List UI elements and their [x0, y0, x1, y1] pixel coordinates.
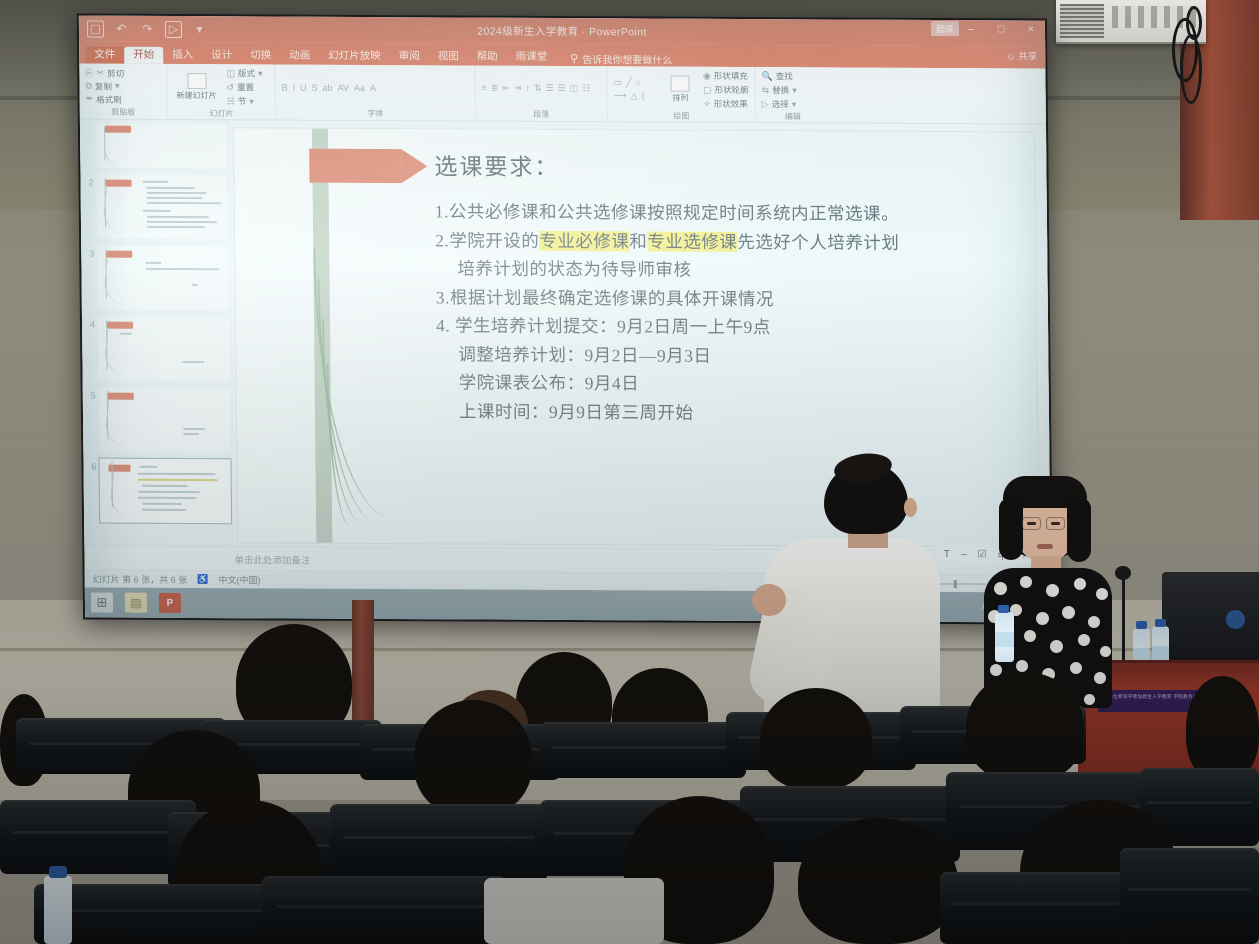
close-button[interactable]: × [1023, 23, 1039, 35]
thumbnail-slide-6[interactable] [99, 459, 231, 524]
format-painter-button[interactable]: ✒格式刷 [86, 93, 122, 105]
ribbon-group-drawing: ▭ ╱ ○ ⟶ △ { 排列 ◉形状填充 [607, 66, 756, 122]
change-case-button[interactable]: Aa [354, 82, 365, 92]
lightbulb-icon: ⚲ [570, 52, 578, 65]
ribbon-group-paragraph: ≡ ≣ ⇤ ⇥ ↕ ⇅ ☰ ☰ ◫ ☷ 段落 [475, 66, 608, 122]
line-spacing-button[interactable]: ↕ [525, 83, 530, 94]
audience-head [1186, 676, 1259, 782]
slide-text-body[interactable]: 选课要求： 1.公共必修课和公共选修课按照规定时间系统内正常选课。 2.学院开设… [434, 147, 1023, 428]
wall-column-left [352, 600, 374, 730]
auditorium-seat [940, 872, 1130, 944]
tab-design[interactable]: 设计 [202, 47, 241, 65]
slide-bullet-2: 2.学院开设的专业必修课和专业选修课先选好个人培养计划 [435, 226, 1021, 258]
tab-review[interactable]: 审阅 [390, 48, 429, 66]
shape-oval-icon[interactable]: ○ [635, 77, 641, 88]
ribbon-group-clipboard: ⎘ ✂剪切 ⧉复制▾ ✒格式刷 剪贴板 [79, 63, 168, 118]
bullets-button[interactable]: ≡ [482, 83, 487, 94]
auditorium-seat [484, 878, 664, 944]
increase-indent-button[interactable]: ⇥ [514, 83, 522, 94]
align-center-button[interactable]: ☰ [558, 83, 566, 94]
thumbnail-row[interactable]: 1 [82, 123, 227, 170]
slide-bullet-3: 3.根据计划最终确定选修课的具体开课情况 [436, 283, 1022, 315]
highlight-major-elective: 专业选修课 [647, 231, 737, 251]
tab-file[interactable]: 文件 [85, 46, 124, 64]
thumbnail-row[interactable]: 3 [83, 245, 229, 312]
copy-button[interactable]: ⧉复制▾ [85, 80, 119, 92]
projector-vent [1060, 4, 1104, 38]
find-button[interactable]: 🔍查找 [761, 70, 796, 82]
restore-button[interactable]: □ [993, 23, 1009, 35]
replace-button[interactable]: ⇆替换▾ [762, 84, 797, 96]
thumbnail-number: 6 [85, 458, 96, 471]
shape-line-icon[interactable]: ╱ [626, 77, 632, 88]
shape-fill-button[interactable]: ◉形状填充 [703, 70, 749, 82]
powerpoint-taskbar-icon[interactable]: P [159, 593, 181, 613]
decrease-indent-button[interactable]: ⇤ [502, 83, 510, 94]
presenter-man [762, 462, 940, 724]
shape-effects-button[interactable]: ✧形状效果 [703, 98, 749, 110]
slide-thumbnail-pane[interactable]: 1 2 [80, 119, 234, 546]
microphone-stem [1122, 572, 1125, 660]
fill-icon: ◉ [703, 70, 711, 81]
projector-cable [1186, 6, 1202, 40]
section-icon: ☵ [227, 96, 235, 107]
ribbon-group-font: B I U S ab AV Aa A 字体 [275, 65, 476, 121]
shape-brace-icon[interactable]: { [641, 90, 644, 101]
thumbnail-row[interactable]: 5 [85, 387, 231, 454]
brush-icon: ✒ [86, 94, 94, 105]
ribbon-display-options-icon[interactable]: ▭ [933, 22, 949, 35]
layout-button[interactable]: ◫版式▾ [226, 67, 262, 79]
font-underline-button[interactable]: U [300, 82, 307, 92]
shape-outline-button[interactable]: ▢形状轮廓 [703, 84, 749, 96]
align-left-button[interactable]: ☰ [545, 83, 553, 94]
chevron-down-icon: ▾ [115, 81, 120, 92]
eyeglass-left [1022, 517, 1041, 530]
select-icon: ▷ [762, 99, 769, 110]
shape-arrow-icon[interactable]: ⟶ [614, 90, 627, 101]
shape-rect-icon[interactable]: ▭ [613, 77, 622, 88]
font-bold-button[interactable]: B [282, 82, 288, 92]
font-italic-button[interactable]: I [293, 82, 296, 92]
thumbnail-number: 3 [83, 245, 94, 258]
slide-bullet-1: 1.公共必修课和公共选修课按照规定时间系统内正常选课。 [435, 197, 1021, 229]
auditorium-seat [0, 800, 196, 874]
tell-me-search[interactable]: ⚲ 告诉我你想要做什么 [570, 51, 672, 67]
microphone-icon [1115, 566, 1131, 580]
tab-animations[interactable]: 动画 [280, 47, 319, 65]
text-direction-button[interactable]: ⇅ [534, 83, 542, 94]
held-water-bottle [995, 612, 1014, 662]
paste-button[interactable]: ⎘ ✂剪切 [85, 67, 160, 80]
copy-icon: ⧉ [85, 81, 92, 92]
minimize-button[interactable]: – [963, 23, 979, 35]
font-spacing-button[interactable]: AV [338, 82, 349, 92]
group-label-slides: 幻灯片 [174, 107, 269, 119]
foreground-water-bottle [44, 876, 72, 944]
paste-icon: ⎘ [85, 68, 92, 79]
hair-side-left [999, 498, 1023, 560]
notes-placeholder: 单击此处添加备注 [234, 552, 310, 566]
group-label-editing: 编辑 [762, 110, 824, 122]
outline-icon: ▢ [703, 84, 712, 95]
replace-icon: ⇆ [762, 85, 770, 96]
arrange-button[interactable]: 排列 [663, 76, 697, 104]
tab-insert[interactable]: 插入 [163, 46, 202, 64]
projector-cable [1180, 34, 1202, 104]
slide-title: 选课要求： [434, 147, 1020, 184]
tab-rain-classroom[interactable]: 雨课堂 [507, 48, 557, 66]
group-label-font: 字体 [282, 107, 469, 120]
layout-icon: ◫ [226, 68, 235, 79]
slide-bullet-4-cont-2: 学院课表公布：9月4日 [437, 368, 1023, 400]
podium-monitor [1162, 572, 1259, 670]
slide-bullet-2-cont: 培养计划的状态为待导师审核 [435, 254, 1021, 286]
smartart-button[interactable]: ☷ [582, 83, 590, 94]
section-button[interactable]: ☵节▾ [227, 95, 263, 107]
eyeglass-right [1046, 517, 1065, 530]
tab-slideshow[interactable]: 幻灯片放映 [319, 47, 390, 65]
font-shadow-button[interactable]: S [312, 82, 318, 92]
thumbnail-number: 5 [85, 387, 96, 400]
audience-head [966, 672, 1084, 782]
tab-home[interactable]: 开始 [124, 46, 163, 64]
thumbnail-slide-2[interactable] [96, 175, 228, 240]
ribbon-group-editing: 🔍查找 ⇆替换▾ ▷选择▾ 编辑 [755, 67, 830, 122]
arrange-icon [671, 76, 690, 92]
start-button[interactable]: ⊞ [91, 592, 113, 612]
thumbnail-slide-5[interactable] [99, 388, 231, 453]
mouth [1037, 544, 1053, 549]
audience-head [798, 818, 958, 944]
slide-bullet-4-cont-1: 调整培养计划：9月2日—9月3日 [436, 340, 1022, 372]
highlight-major-required: 专业必修课 [539, 230, 629, 250]
tab-transitions[interactable]: 切换 [241, 47, 280, 65]
thumbnail-row[interactable]: 2 [82, 174, 228, 241]
group-label-clipboard: 剪贴板 [86, 106, 161, 118]
ime-dash-icon: – [961, 549, 967, 560]
share-label: 共享 [1018, 51, 1037, 62]
auditorium-seat [262, 876, 506, 944]
language-indicator[interactable]: 中文(中国) [218, 573, 260, 586]
paragraph-controls[interactable]: ≡ ≣ ⇤ ⇥ ↕ ⇅ ☰ ☰ ◫ ☷ [482, 83, 600, 95]
select-button[interactable]: ▷选择▾ [762, 98, 797, 110]
slide-counter: 幻灯片 第 6 张，共 6 张 [93, 572, 188, 585]
thumbnail-number: 4 [84, 316, 95, 329]
ear [904, 498, 917, 517]
slide-title-arrow [309, 149, 427, 184]
file-explorer-icon[interactable]: ▤ [125, 593, 147, 613]
font-strikethrough-button[interactable]: ab [323, 82, 333, 92]
shape-triangle-icon[interactable]: △ [631, 90, 638, 101]
hand [752, 584, 786, 616]
scissors-icon: ✂ [97, 68, 105, 79]
cut-button[interactable]: ✂剪切 [97, 67, 125, 79]
presenter-woman [979, 476, 1114, 706]
reset-icon: ↺ [226, 82, 234, 93]
ime-text-icon[interactable]: T [944, 549, 950, 560]
columns-button[interactable]: ◫ [570, 83, 579, 94]
slide-bullet-4: 4. 学生培养计划提交：9月2日周一上午9点 [436, 311, 1022, 343]
window-controls: ▭ – □ × [933, 22, 1039, 36]
tab-view[interactable]: 视图 [429, 48, 468, 66]
tell-me-label: 告诉我你想要做什么 [582, 51, 672, 66]
thumbnail-row[interactable]: 6 [85, 458, 231, 525]
thumbnail-slide-4[interactable] [98, 317, 230, 382]
auditorium-seat [540, 722, 746, 778]
font-controls[interactable]: B I U S ab AV Aa A [282, 82, 469, 93]
auditorium-seat [330, 804, 548, 880]
monitor-logo [1226, 610, 1245, 629]
new-slide-icon [187, 73, 206, 89]
window-title: 2024级新生入学教育 · PowerPoint [79, 21, 1045, 41]
ribbon-group-slides: 新建幻灯片 ◫版式▾ ↺重置 ☵节▾ 幻灯片 [167, 64, 276, 120]
auditorium-seat [1120, 848, 1259, 944]
tab-help[interactable]: 帮助 [468, 48, 507, 66]
font-color-button[interactable]: A [370, 83, 376, 93]
new-slide-button[interactable]: 新建幻灯片 [173, 73, 219, 101]
effects-icon: ✧ [703, 98, 711, 109]
hair-side-right [1067, 498, 1091, 562]
slide-bullet-4-cont-3: 上课时间：9月9日第三周开始 [437, 397, 1023, 429]
lecture-hall-scene: ▢ ↶ ↷ ▷ ▾ 2024级新生入学教育 · PowerPoint 文件 开始… [0, 0, 1259, 944]
numbering-button[interactable]: ≣ [491, 83, 499, 94]
audience-head [414, 700, 532, 816]
reset-button[interactable]: ↺重置 [226, 81, 262, 93]
thumbnail-row[interactable]: 4 [84, 316, 230, 383]
group-label-paragraph: 段落 [482, 108, 601, 121]
ribbon-toolbar: ⎘ ✂剪切 ⧉复制▾ ✒格式刷 剪贴板 新建幻灯片 [79, 63, 1046, 124]
audience-head [760, 688, 872, 790]
accessibility-icon[interactable]: ♿ [197, 574, 208, 585]
search-icon: 🔍 [761, 71, 772, 82]
thumbnail-slide-3[interactable] [97, 246, 229, 311]
thumbnail-number: 2 [82, 174, 93, 187]
shape-gallery[interactable]: ▭ ╱ ○ ⟶ △ { [613, 77, 657, 101]
thumbnail-slide-1[interactable] [96, 124, 227, 169]
share-button[interactable]: ☺ 共享 [1006, 48, 1038, 62]
group-label-drawing: 绘图 [614, 109, 749, 122]
